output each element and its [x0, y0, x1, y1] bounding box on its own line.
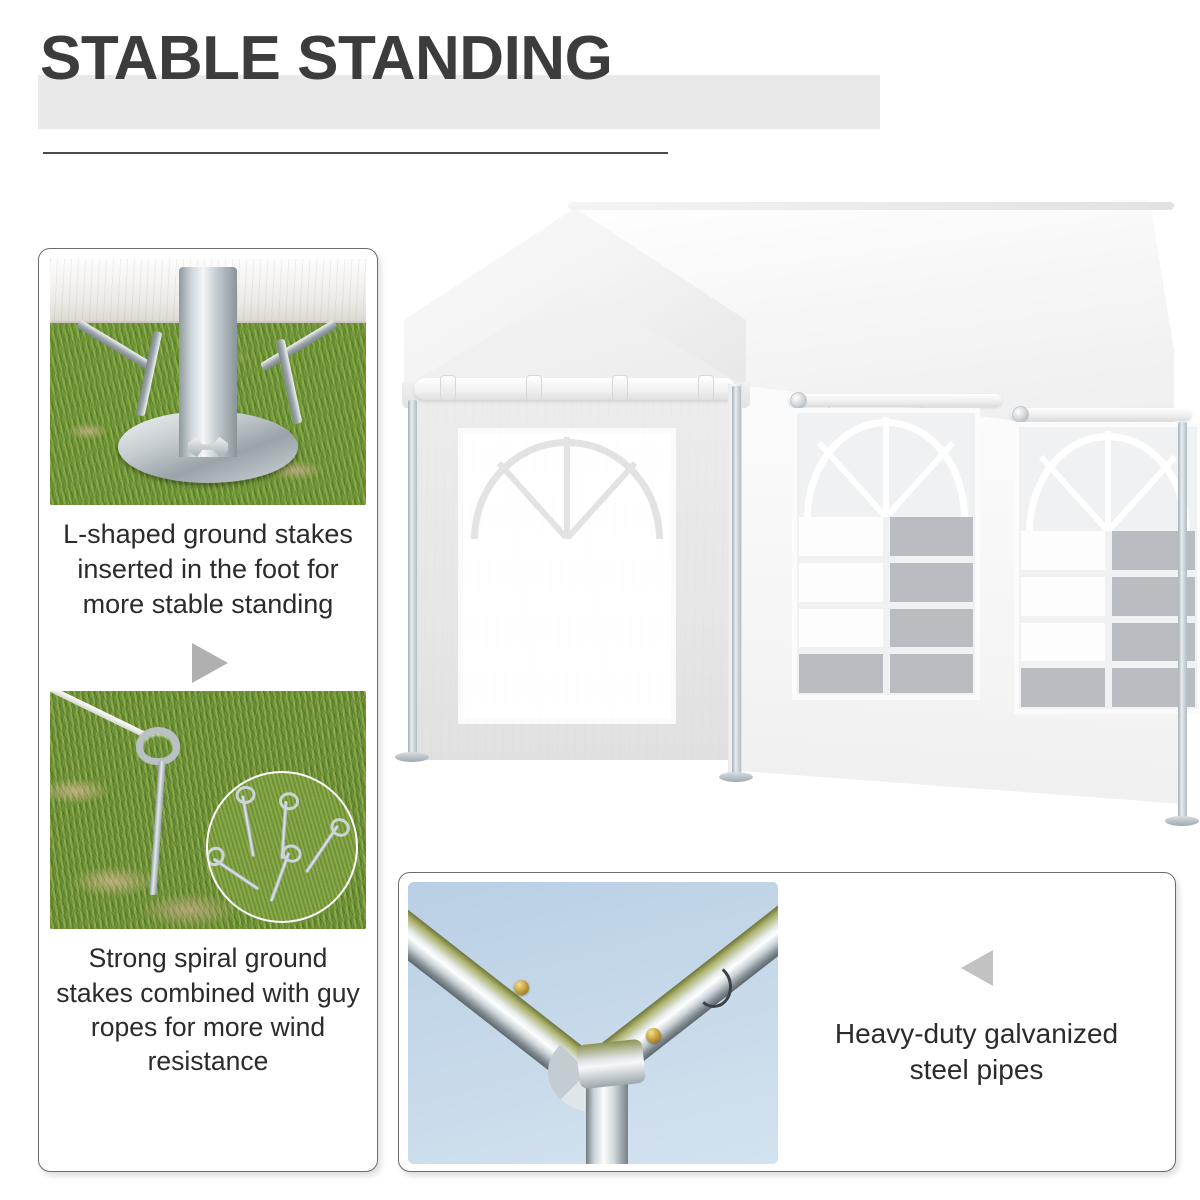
tent-foot-plate [1165, 816, 1199, 826]
valance-clip [526, 375, 542, 401]
arch-spoke-center [1105, 431, 1111, 531]
tent-leg-post [732, 386, 741, 776]
left-feature-card: L-shaped ground stakes inserted in the f… [38, 248, 378, 1172]
pole-base-plate-photo [50, 259, 366, 505]
rail-knob-icon [790, 392, 807, 409]
side-window-rail [1010, 408, 1192, 421]
window-pane [1021, 531, 1105, 570]
spiral-stake-eye [136, 727, 180, 765]
window-pane [571, 678, 670, 717]
front-window-panel [458, 428, 676, 724]
mini-stake [241, 796, 256, 858]
steel-pole [179, 267, 237, 457]
front-window-pane-grid [463, 539, 671, 719]
valance-clip [698, 375, 714, 401]
window-pane [799, 654, 883, 693]
bottom-right-caption-wrap: Heavy-duty galvanized steel pipes [778, 873, 1175, 1171]
left-caption-bottom: Strong spiral ground stakes combined wit… [43, 941, 373, 1078]
triangle-right-icon [192, 643, 228, 683]
side-window-pane-grid [797, 517, 975, 695]
side-window-rail [788, 394, 1002, 407]
arch-spoke-center [883, 417, 889, 517]
bottom-right-caption: Heavy-duty galvanized steel pipes [797, 1016, 1157, 1088]
valance-clip [440, 375, 456, 401]
page-title: STABLE STANDING [40, 28, 1040, 90]
window-pane [890, 563, 974, 602]
bolt-icon [514, 980, 529, 995]
mini-stake [212, 858, 259, 892]
rail-knob-icon [1012, 406, 1029, 423]
mini-stake [305, 825, 340, 874]
arch-spoke-center [564, 437, 570, 539]
tent-roof-ridge [568, 202, 1174, 210]
arch-spoke-left [497, 461, 569, 538]
tent-foot-plate [395, 752, 429, 762]
side-window-arch [1019, 427, 1197, 531]
window-pane [890, 517, 974, 556]
window-pane [571, 631, 670, 670]
window-pane [1021, 577, 1105, 616]
tent-front-valance-bar [414, 378, 736, 400]
side-window-panel [1014, 422, 1200, 714]
window-pane [799, 563, 883, 602]
window-pane [799, 609, 883, 648]
window-pane [571, 585, 670, 624]
page-header: STABLE STANDING [0, 0, 1200, 170]
window-pane [890, 654, 974, 693]
arch-spoke-right [565, 461, 637, 538]
window-pane [571, 539, 670, 578]
pipe-joint-photo [408, 882, 778, 1164]
window-pane [1021, 623, 1105, 662]
tent-foot-plate [719, 772, 753, 782]
front-window-arch [463, 433, 671, 539]
mini-stake [269, 852, 291, 902]
tent-leg-post [408, 400, 417, 756]
window-pane [465, 631, 564, 670]
window-pane [465, 678, 564, 717]
window-pane [799, 517, 883, 556]
bolt-icon [646, 1028, 661, 1043]
carport-tent-photo [392, 186, 1184, 858]
tent-leg-post [1178, 422, 1187, 820]
arch-ring-icon [471, 439, 662, 538]
window-pane [1021, 668, 1105, 707]
window-pane [890, 609, 974, 648]
left-caption-top: L-shaped ground stakes inserted in the f… [48, 517, 368, 621]
bottom-right-feature-card: Heavy-duty galvanized steel pipes [398, 872, 1176, 1172]
stake-group-inset [206, 771, 358, 923]
valance-clip [612, 375, 628, 401]
triangle-left-icon [961, 950, 993, 986]
side-window-pane-grid [1019, 531, 1197, 709]
window-pane [465, 585, 564, 624]
side-window-panel [792, 408, 980, 700]
tent-front-wall [410, 400, 740, 760]
side-window-arch [797, 413, 975, 517]
pipe-joint-hub [576, 1039, 646, 1090]
title-underline-rule [43, 152, 668, 154]
spiral-stake-photo [50, 691, 366, 929]
window-pane [465, 539, 564, 578]
